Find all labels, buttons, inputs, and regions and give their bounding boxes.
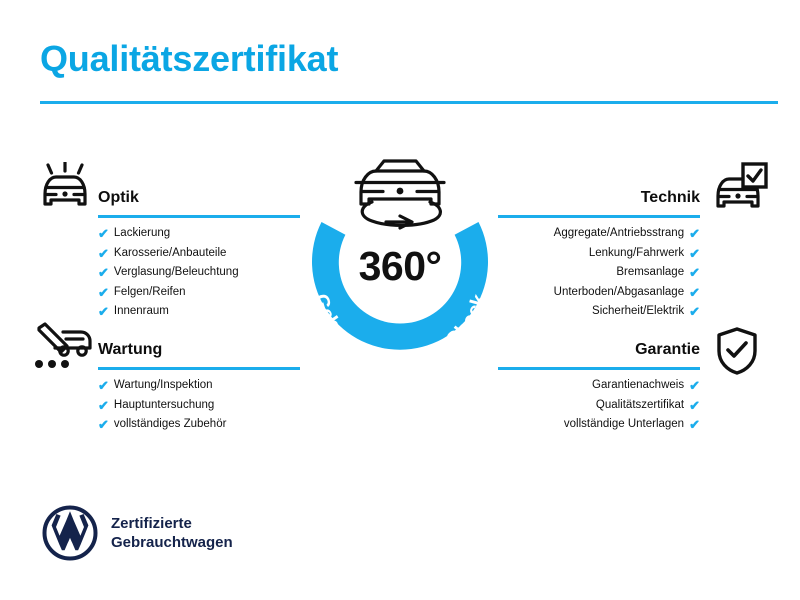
footer-brand: Zertifizierte Gebrauchtwagen	[42, 505, 233, 561]
list-item: ✔ Felgen/Reifen	[98, 286, 300, 299]
check-icon: ✔	[689, 266, 700, 279]
section-header: Wartung	[98, 340, 300, 370]
section-divider	[498, 215, 700, 218]
check-icon: ✔	[98, 227, 109, 240]
badge-number: 360°	[290, 246, 510, 287]
list-item: Sicherheit/Elektrik ✔	[498, 305, 700, 318]
footer-line-1: Zertifizierte	[111, 514, 233, 533]
list-item-label: Unterboden/Abgasanlage	[554, 286, 684, 299]
list-item: Bremsanlage ✔	[498, 266, 700, 279]
section-title: Technik	[498, 188, 700, 208]
section-items: ✔ Wartung/Inspektion ✔ Hauptuntersuchung…	[98, 379, 300, 431]
certificate-page: Qualitätszertifikat	[0, 0, 800, 600]
section-divider	[98, 215, 300, 218]
list-item: ✔ Hauptuntersuchung	[98, 399, 300, 412]
section-items: Aggregate/Antriebsstrang ✔ Lenkung/Fahrw…	[498, 227, 700, 318]
section-technik: Technik Aggregate/Antriebsstrang ✔ Lenku…	[498, 188, 700, 325]
check-icon: ✔	[98, 418, 109, 431]
check-icon: ✔	[98, 266, 109, 279]
section-title: Wartung	[98, 340, 300, 360]
list-item-label: Wartung/Inspektion	[114, 379, 213, 392]
car-headlights-icon	[38, 162, 92, 219]
title-divider	[40, 101, 778, 104]
list-item-label: Verglasung/Beleuchtung	[114, 266, 239, 279]
check-icon: ✔	[689, 247, 700, 260]
section-title: Optik	[98, 188, 300, 208]
list-item: ✔ Innenraum	[98, 305, 300, 318]
check-icon: ✔	[689, 418, 700, 431]
section-optik: Optik ✔ Lackierung ✔ Karosserie/Anbautei…	[98, 188, 300, 325]
page-title: Qualitätszertifikat	[40, 38, 338, 80]
list-item-label: Bremsanlage	[616, 266, 684, 279]
list-item-label: Aggregate/Antriebsstrang	[554, 227, 684, 240]
list-item-label: vollständige Unterlagen	[564, 418, 684, 431]
car-checkbox-icon	[712, 162, 768, 219]
check-icon: ✔	[689, 227, 700, 240]
list-item: Aggregate/Antriebsstrang ✔	[498, 227, 700, 240]
section-header: Optik	[98, 188, 300, 218]
list-item: Lenkung/Fahrwerk ✔	[498, 247, 700, 260]
section-title: Garantie	[498, 340, 700, 360]
list-item: Unterboden/Abgasanlage ✔	[498, 286, 700, 299]
list-item-label: Karosserie/Anbauteile	[114, 247, 227, 260]
list-item-label: vollständiges Zubehör	[114, 418, 227, 431]
list-item-label: Lenkung/Fahrwerk	[589, 247, 684, 260]
section-wartung: Wartung ✔ Wartung/Inspektion ✔ Hauptunte…	[98, 340, 300, 438]
list-item: Garantienachweis ✔	[498, 379, 700, 392]
list-item-label: Sicherheit/Elektrik	[592, 305, 684, 318]
list-item-label: Hauptuntersuchung	[114, 399, 214, 412]
check-icon: ✔	[98, 305, 109, 318]
vw-logo	[42, 505, 98, 561]
section-divider	[498, 367, 700, 370]
list-item-label: Garantienachweis	[592, 379, 684, 392]
footer-line-2: Gebrauchtwagen	[111, 533, 233, 552]
check-icon: ✔	[689, 399, 700, 412]
list-item: ✔ Lackierung	[98, 227, 300, 240]
list-item: ✔ Wartung/Inspektion	[98, 379, 300, 392]
check-icon: ✔	[98, 247, 109, 260]
check-icon: ✔	[98, 379, 109, 392]
list-item: vollständige Unterlagen ✔	[498, 418, 700, 431]
list-item-label: Innenraum	[114, 305, 169, 318]
check-icon: ✔	[98, 286, 109, 299]
list-item: Qualitätszertifikat ✔	[498, 399, 700, 412]
list-item-label: Qualitätszertifikat	[596, 399, 684, 412]
section-header: Technik	[498, 188, 700, 218]
check-icon: ✔	[689, 286, 700, 299]
list-item: ✔ Karosserie/Anbauteile	[98, 247, 300, 260]
footer-text: Zertifizierte Gebrauchtwagen	[111, 514, 233, 552]
shield-check-icon	[714, 326, 760, 381]
section-items: ✔ Lackierung ✔ Karosserie/Anbauteile ✔ V…	[98, 227, 300, 318]
check-icon: ✔	[689, 305, 700, 318]
section-divider	[98, 367, 300, 370]
section-items: Garantienachweis ✔ Qualitätszertifikat ✔…	[498, 379, 700, 431]
wrench-car-icon	[33, 322, 95, 377]
check-icon: ✔	[689, 379, 700, 392]
list-item: ✔ Verglasung/Beleuchtung	[98, 266, 300, 279]
section-garantie: Garantie Garantienachweis ✔ Qualitätszer…	[498, 340, 700, 438]
list-item: ✔ vollständiges Zubehör	[98, 418, 300, 431]
check-icon: ✔	[98, 399, 109, 412]
badge-360: Gebrauchtwagen-Check 360°	[290, 152, 510, 374]
section-header: Garantie	[498, 340, 700, 370]
list-item-label: Lackierung	[114, 227, 170, 240]
list-item-label: Felgen/Reifen	[114, 286, 186, 299]
